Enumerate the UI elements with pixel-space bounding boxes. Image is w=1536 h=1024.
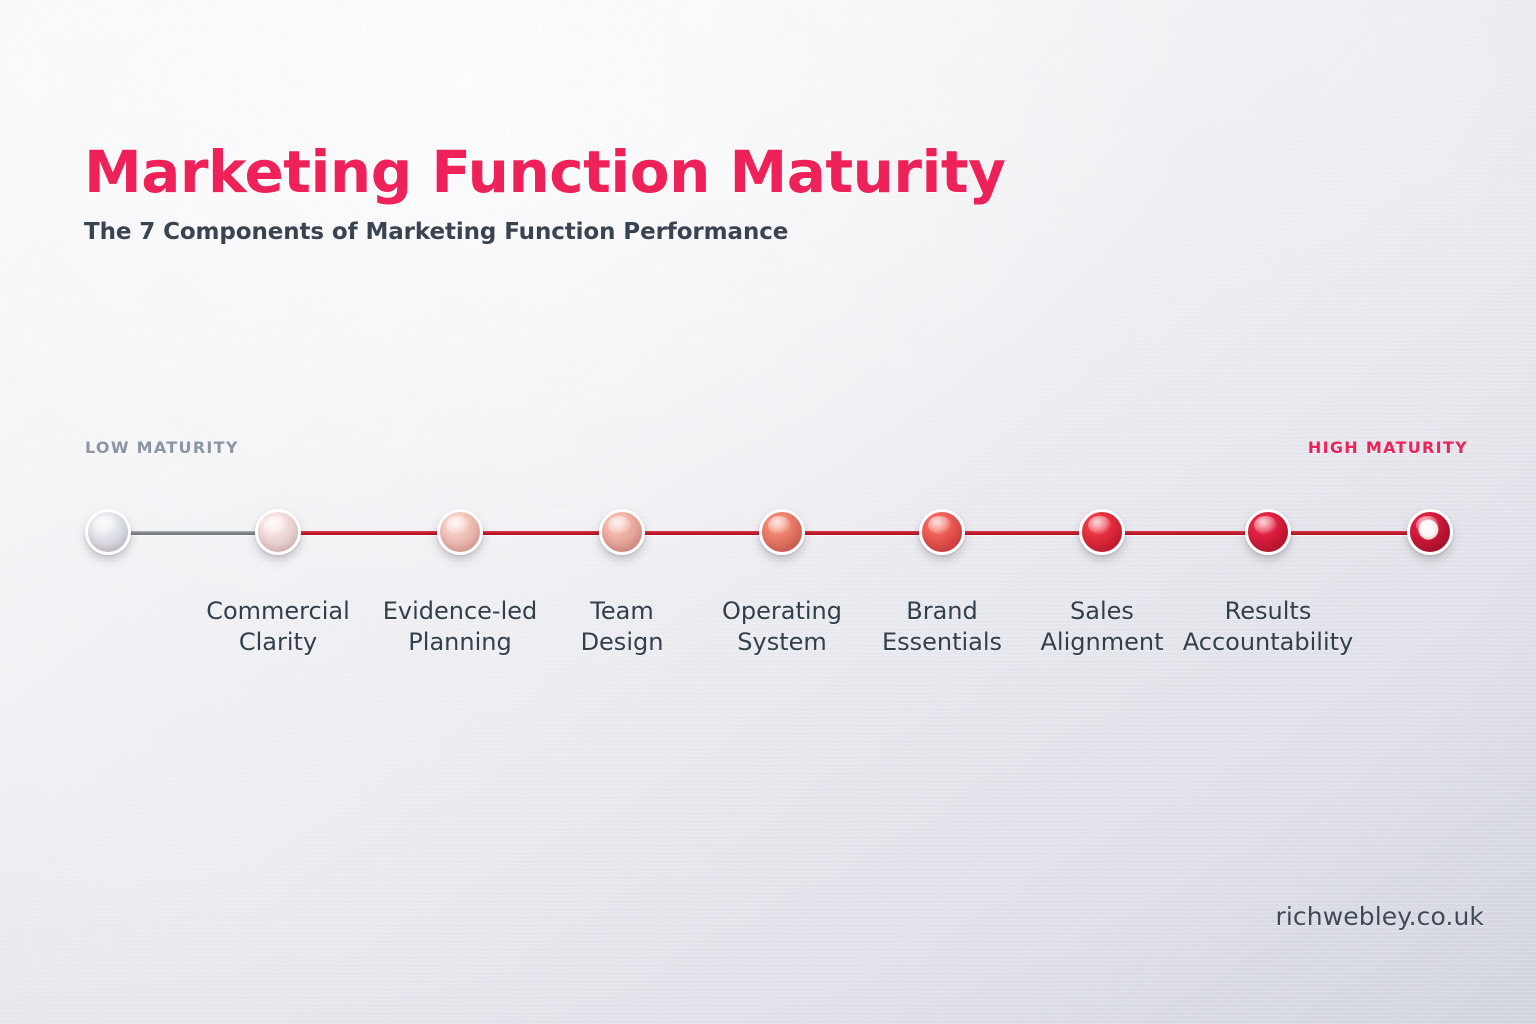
node-end[interactable]	[1407, 509, 1453, 555]
scale-high-maturity-label: HIGH MATURITY	[1308, 438, 1468, 457]
node-operating-system[interactable]	[759, 509, 805, 555]
node-team-design[interactable]	[599, 509, 645, 555]
node-sales-alignment[interactable]	[1079, 509, 1125, 555]
sphere-gloss-highlight	[264, 516, 286, 534]
label-line-2: Accountability	[1158, 627, 1378, 658]
sphere-gloss-highlight	[608, 516, 630, 534]
sphere-center-core	[1418, 520, 1438, 540]
sphere-gloss-highlight	[928, 516, 950, 534]
sphere-gloss-highlight	[1088, 516, 1110, 534]
node-start[interactable]	[85, 509, 131, 555]
label-line-1: Results	[1158, 596, 1378, 627]
sphere-gloss-highlight	[94, 516, 116, 534]
footer-website-url: richwebley.co.uk	[1276, 902, 1485, 931]
infographic-canvas: Marketing Function Maturity The 7 Compon…	[0, 0, 1536, 1024]
maturity-scale: LOW MATURITY HIGH MATURITY CommercialCla…	[0, 0, 1536, 1024]
node-commercial-clarity[interactable]	[255, 509, 301, 555]
node-results-accountability[interactable]	[1245, 509, 1291, 555]
sphere-gloss-highlight	[768, 516, 790, 534]
node-results-accountability-label: ResultsAccountability	[1158, 596, 1378, 657]
sphere-gloss-highlight	[1254, 516, 1276, 534]
sphere-gloss-highlight	[446, 516, 468, 534]
node-evidence-led-planning[interactable]	[437, 509, 483, 555]
scale-low-maturity-label: LOW MATURITY	[85, 438, 239, 457]
node-brand-essentials[interactable]	[919, 509, 965, 555]
